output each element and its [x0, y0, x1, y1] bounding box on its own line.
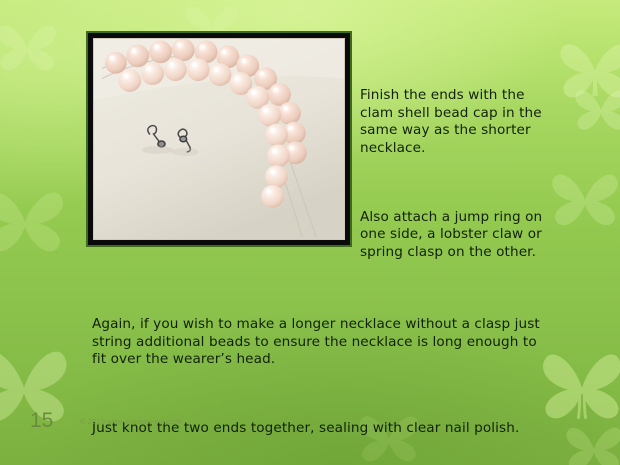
butterfly-watermark-right-upper — [572, 78, 620, 142]
butterfly-watermark-left-top — [0, 12, 60, 84]
necklace-photo-illustration — [94, 39, 344, 239]
presentation-slide: Finish the ends with the clam shell bead… — [0, 0, 620, 465]
necklace-photo-frame — [86, 31, 352, 247]
copyright-notice: © 2012 www.natures-sol.com — [80, 417, 181, 426]
instruction-text-right: Finish the ends with the clam shell bead… — [360, 52, 560, 297]
necklace-photo — [93, 38, 345, 240]
page-number: 15 — [30, 409, 53, 433]
instruction-text-bottom: Again, if you wish to make a longer neck… — [92, 281, 542, 465]
paragraph: Finish the ends with the clam shell bead… — [360, 87, 560, 157]
butterfly-watermark-top-right — [556, 28, 620, 114]
paragraph: Again, if you wish to make a longer neck… — [92, 316, 542, 369]
photo-inner-border — [88, 33, 350, 245]
paragraph: Also attach a jump ring on one side, a l… — [360, 209, 560, 262]
butterfly-watermark-bottom-right — [538, 338, 620, 434]
butterfly-watermark-bottom-right-low — [560, 418, 620, 465]
butterfly-watermark-left-mid — [0, 175, 68, 269]
